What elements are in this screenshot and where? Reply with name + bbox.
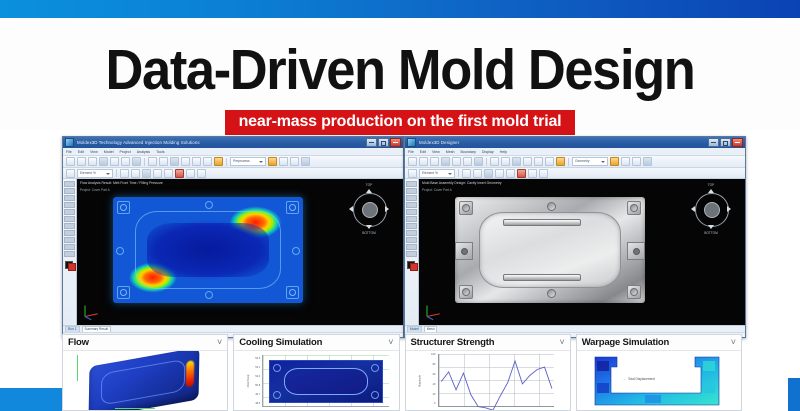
text-tool-icon[interactable] bbox=[406, 230, 417, 236]
bolt-hole bbox=[459, 201, 473, 215]
maximize-button[interactable] bbox=[378, 138, 389, 147]
node-icon[interactable] bbox=[159, 157, 168, 166]
layer-combo[interactable]: Element % bbox=[419, 169, 455, 178]
menu-item-mesh[interactable]: Mesh bbox=[446, 150, 455, 154]
side-tab bbox=[455, 242, 473, 260]
menu-item-model[interactable]: Model bbox=[104, 150, 114, 154]
bolt-hole bbox=[117, 201, 130, 214]
panel-structurer-strength[interactable]: Structurer Strength ˅ Magnitude 100 80 6… bbox=[405, 334, 571, 411]
wireframe-icon[interactable] bbox=[473, 169, 482, 178]
transparency-icon[interactable] bbox=[484, 169, 493, 178]
bolt-hole bbox=[273, 391, 281, 399]
select-tool-icon[interactable] bbox=[406, 181, 417, 187]
shade-icon[interactable] bbox=[462, 169, 471, 178]
viewport-cad-model[interactable]: Mold Base Assembly Design: Cavity Insert… bbox=[419, 179, 745, 325]
shade-icon[interactable] bbox=[120, 169, 129, 178]
color-swatch[interactable] bbox=[407, 261, 416, 269]
node-icon[interactable] bbox=[501, 157, 510, 166]
layer-icon[interactable] bbox=[408, 169, 417, 178]
strength-y-ticks: 100 80 60 40 20 0 bbox=[420, 352, 436, 407]
cooling-plot-area bbox=[262, 355, 388, 407]
element-icon[interactable] bbox=[170, 157, 179, 166]
warpage-art: →Total Displacement bbox=[577, 351, 741, 410]
zoom-icon[interactable] bbox=[523, 157, 532, 166]
viewcube-widget[interactable]: TOP BOTTOM bbox=[349, 189, 389, 229]
arrow-icon: → bbox=[623, 377, 626, 381]
element-icon[interactable] bbox=[512, 157, 521, 166]
toolbar-separator bbox=[486, 158, 487, 166]
menu-item-help[interactable]: Help bbox=[500, 150, 507, 154]
bolt-hole bbox=[286, 201, 299, 214]
bolt-hole bbox=[627, 285, 641, 299]
bolt-hole bbox=[117, 286, 130, 299]
axis-triad-icon bbox=[425, 299, 447, 319]
menu-item-project[interactable]: Project bbox=[120, 150, 131, 154]
mode-combo[interactable]: Preprocess bbox=[230, 157, 266, 166]
select-tool-icon[interactable] bbox=[64, 181, 75, 187]
toolbar-separator-2 bbox=[568, 158, 569, 166]
viewcube-left-arrow-icon[interactable] bbox=[349, 206, 353, 212]
panel-title: Structurer Strength bbox=[411, 337, 495, 348]
animate-icon[interactable] bbox=[186, 169, 195, 178]
top-banner bbox=[0, 0, 800, 18]
panel-body-flow[interactable] bbox=[63, 351, 227, 410]
tick-label: 60 bbox=[433, 373, 436, 376]
menu-item-file[interactable]: File bbox=[408, 150, 414, 154]
wireframe-icon[interactable] bbox=[131, 169, 140, 178]
redo-icon[interactable] bbox=[121, 157, 130, 166]
redo-icon[interactable] bbox=[463, 157, 472, 166]
chevron-down-icon[interactable]: ˅ bbox=[217, 338, 222, 347]
zoom-icon[interactable] bbox=[181, 157, 190, 166]
pin-hole bbox=[205, 291, 213, 299]
warpage-part-svg bbox=[583, 353, 741, 409]
strength-plot-area bbox=[438, 354, 554, 407]
app-icon bbox=[407, 138, 416, 147]
viewcube-bottom-label: BOTTOM bbox=[349, 231, 389, 235]
subtitle-badge: near-mass production on the first mold t… bbox=[225, 110, 576, 135]
panel-title: Warpage Simulation bbox=[582, 337, 669, 348]
probe-icon[interactable] bbox=[506, 169, 515, 178]
panel-body-warpage[interactable]: →Total Displacement bbox=[577, 351, 741, 410]
export-icon[interactable] bbox=[539, 169, 548, 178]
measure-icon[interactable] bbox=[279, 157, 288, 166]
tick-label: 49.7 bbox=[255, 393, 260, 396]
workarea-right: Mold Base Assembly Design: Cavity Insert… bbox=[405, 179, 745, 325]
open-icon[interactable] bbox=[419, 157, 428, 166]
print-icon[interactable] bbox=[99, 157, 108, 166]
shape-tool-icon[interactable] bbox=[406, 237, 417, 243]
probe-icon[interactable] bbox=[164, 169, 173, 178]
cooling-mold-contour bbox=[269, 360, 382, 403]
chevron-down-icon[interactable]: ˅ bbox=[388, 338, 393, 347]
panel-warpage-simulation[interactable]: Warpage Simulation ˅ bbox=[576, 334, 742, 411]
viewcube-left-arrow-icon[interactable] bbox=[691, 206, 695, 212]
lasso-tool-icon[interactable] bbox=[64, 188, 75, 194]
viewcube-right-arrow-icon[interactable] bbox=[727, 206, 731, 212]
bottom-left-accent-block bbox=[0, 388, 62, 411]
tick-label: 40 bbox=[433, 383, 436, 386]
section-icon[interactable] bbox=[290, 157, 299, 166]
menubar-left[interactable]: File Edit View Model Project Analysis To… bbox=[63, 148, 403, 156]
panel-header-warpage[interactable]: Warpage Simulation ˅ bbox=[577, 335, 741, 351]
flow-hotspot bbox=[186, 360, 194, 387]
menu-item-file[interactable]: File bbox=[66, 150, 72, 154]
tool-palette-left[interactable] bbox=[63, 179, 77, 325]
subtitle-wrapper: near-mass production on the first mold t… bbox=[0, 110, 800, 135]
menu-item-view[interactable]: View bbox=[432, 150, 440, 154]
strength-line-chart bbox=[439, 354, 554, 410]
toolbar-primary-right[interactable]: Geometry bbox=[405, 156, 745, 168]
save-icon[interactable] bbox=[430, 157, 439, 166]
bolt-hole bbox=[273, 364, 281, 372]
tick-label: 50.8 bbox=[255, 384, 260, 387]
panel-cooling-simulation[interactable]: Cooling Simulation ˅ Mold Temp 54.3 53.1… bbox=[233, 334, 399, 411]
viewcube-up-arrow-icon[interactable] bbox=[366, 189, 372, 193]
viewcube-hub[interactable] bbox=[362, 202, 378, 218]
bolt-hole bbox=[459, 285, 473, 299]
viewcube-widget[interactable]: TOP BOTTOM bbox=[691, 189, 731, 229]
print-icon[interactable] bbox=[441, 157, 450, 166]
shape-tool-icon[interactable] bbox=[64, 237, 75, 243]
grid-icon[interactable] bbox=[301, 157, 310, 166]
menu-item-edit[interactable]: Edit bbox=[78, 150, 84, 154]
hand-tool-icon[interactable] bbox=[64, 244, 75, 250]
sheet-tabs-left[interactable]: Run 1 Summary Result bbox=[63, 325, 403, 332]
pin-hole bbox=[292, 247, 300, 255]
axis-z bbox=[427, 316, 434, 320]
mold-plate-cad bbox=[455, 197, 645, 303]
bolt-hole bbox=[371, 391, 379, 399]
color-swatch[interactable] bbox=[65, 261, 74, 269]
viewport-heading: Mold Base Assembly Design: Cavity Insert… bbox=[422, 181, 502, 186]
layer-combo[interactable]: Element % bbox=[77, 169, 113, 178]
panel-body-strength[interactable]: Magnitude 100 80 60 40 20 0 bbox=[406, 351, 570, 410]
tick-label: 54.3 bbox=[255, 357, 260, 360]
delete-icon[interactable] bbox=[175, 169, 184, 178]
workarea-left: Flow Analysis Result: Melt Front Time / … bbox=[63, 179, 403, 325]
page-title: Data-Driven Mold Design bbox=[32, 40, 768, 100]
viewport-subheading: Project: Cover Part A bbox=[80, 188, 110, 193]
chevron-down-icon[interactable]: ˅ bbox=[559, 338, 564, 347]
viewport-heading: Flow Analysis Result: Melt Front Time / … bbox=[80, 181, 163, 186]
tick-label: 48.5 bbox=[255, 402, 260, 405]
rotate-icon[interactable] bbox=[545, 157, 554, 166]
flow-part-3d bbox=[89, 351, 200, 410]
panel-title: Cooling Simulation bbox=[239, 337, 322, 348]
panel-header-cooling[interactable]: Cooling Simulation ˅ bbox=[234, 335, 398, 351]
brush-tool-icon[interactable] bbox=[64, 202, 75, 208]
gradient-tool-icon[interactable] bbox=[64, 223, 75, 229]
cad-rib bbox=[503, 274, 581, 281]
viewcube-top-label: TOP bbox=[691, 183, 731, 187]
tool-palette-right[interactable] bbox=[405, 179, 419, 325]
menu-item-view[interactable]: View bbox=[90, 150, 98, 154]
pin-hole bbox=[116, 247, 124, 255]
close-icon[interactable] bbox=[732, 138, 743, 147]
side-tab bbox=[627, 242, 645, 260]
viewcube-right-arrow-icon[interactable] bbox=[385, 206, 389, 212]
new-icon[interactable] bbox=[408, 157, 417, 166]
pan-icon[interactable] bbox=[192, 157, 201, 166]
axis-triad-icon bbox=[83, 299, 105, 319]
toolbar-separator-3 bbox=[458, 169, 459, 177]
mode-combo[interactable]: Geometry bbox=[572, 157, 608, 166]
viewcube-top-label: TOP bbox=[349, 183, 389, 187]
gradient-tool-icon[interactable] bbox=[406, 223, 417, 229]
panel-header-flow[interactable]: Flow ˅ bbox=[63, 335, 227, 351]
toolbar-separator bbox=[144, 158, 145, 166]
window-title: Moldex3D Technology Advanced Injection M… bbox=[77, 140, 366, 145]
viewport-subheading: Project: Cover Part A bbox=[422, 188, 452, 193]
left-margin bbox=[0, 130, 62, 388]
warpage-annotation: →Total Displacement bbox=[623, 377, 655, 381]
run-analysis-icon[interactable] bbox=[556, 157, 565, 166]
tick-label: 0 bbox=[434, 402, 435, 405]
pin-hole bbox=[547, 202, 556, 211]
cut-icon[interactable] bbox=[474, 157, 483, 166]
viewcube-hub[interactable] bbox=[704, 202, 720, 218]
tick-label: 52.0 bbox=[255, 375, 260, 378]
tick-label: 100 bbox=[431, 353, 435, 356]
bottom-right-accent-block bbox=[788, 378, 800, 411]
app-icon bbox=[65, 138, 74, 147]
legend-icon[interactable] bbox=[495, 169, 504, 178]
warpage-annotation-text: Total Displacement bbox=[628, 377, 655, 381]
panel-title: Flow bbox=[68, 337, 89, 348]
toolbar-primary-left[interactable]: Preprocess bbox=[63, 156, 403, 168]
hero-section: Data-Driven Mold Design near-mass produc… bbox=[0, 18, 800, 130]
bolt-hole bbox=[286, 286, 299, 299]
viewport-flow-result[interactable]: Flow Analysis Result: Melt Front Time / … bbox=[77, 179, 403, 325]
viewcube-down-arrow-icon[interactable] bbox=[366, 225, 372, 229]
mold-plate-heatmap bbox=[113, 197, 303, 303]
mesh-icon[interactable] bbox=[490, 157, 499, 166]
tick-label: 80 bbox=[433, 363, 436, 366]
app-window-left[interactable]: Moldex3D Technology Advanced Injection M… bbox=[62, 136, 404, 338]
undo-icon[interactable] bbox=[110, 157, 119, 166]
minimize-button[interactable] bbox=[708, 138, 719, 147]
menu-item-display[interactable]: Display bbox=[482, 150, 494, 154]
layer-icon[interactable] bbox=[66, 169, 75, 178]
lasso-tool-icon[interactable] bbox=[406, 188, 417, 194]
window-controls[interactable] bbox=[366, 138, 401, 147]
dimension-line-2 bbox=[115, 408, 155, 409]
result-panels: Flow ˅ Cooling Simulation ˅ Mold Temp 54… bbox=[62, 334, 742, 411]
transparency-icon[interactable] bbox=[142, 169, 151, 178]
run-analysis-icon[interactable] bbox=[214, 157, 223, 166]
close-icon[interactable] bbox=[390, 138, 401, 147]
menu-item-boundary[interactable]: Boundary bbox=[461, 150, 476, 154]
maximize-button[interactable] bbox=[720, 138, 731, 147]
chevron-down-icon[interactable]: ˅ bbox=[731, 338, 736, 347]
zoom-tool-icon[interactable] bbox=[64, 251, 75, 257]
legend-icon[interactable] bbox=[153, 169, 162, 178]
app-window-right[interactable]: Moldex3D Designer File Edit View Mesh Bo… bbox=[404, 136, 746, 338]
menu-item-tools[interactable]: Tools bbox=[156, 150, 164, 154]
panel-flow[interactable]: Flow ˅ bbox=[62, 334, 228, 411]
text-tool-icon[interactable] bbox=[64, 230, 75, 236]
panel-body-cooling[interactable]: Mold Temp 54.3 53.1 52.0 50.8 49.7 48.5 bbox=[234, 351, 398, 410]
brush-tool-icon[interactable] bbox=[406, 202, 417, 208]
background-color[interactable] bbox=[68, 263, 76, 271]
save-icon[interactable] bbox=[88, 157, 97, 166]
fill-tool-icon[interactable] bbox=[64, 216, 75, 222]
mesh-icon[interactable] bbox=[148, 157, 157, 166]
warning-icon[interactable] bbox=[268, 157, 277, 166]
menubar-right[interactable]: File Edit View Mesh Boundary Display Hel… bbox=[405, 148, 745, 156]
grid-icon[interactable] bbox=[643, 157, 652, 166]
bolt-hole bbox=[371, 364, 379, 372]
window-title: Moldex3D Designer bbox=[419, 140, 708, 145]
dimension-line bbox=[77, 355, 78, 381]
pan-icon[interactable] bbox=[534, 157, 543, 166]
cooling-cavity-outline bbox=[284, 368, 367, 395]
cad-rib bbox=[503, 219, 581, 226]
cut-icon[interactable] bbox=[132, 157, 141, 166]
crop-tool-icon[interactable] bbox=[406, 195, 417, 201]
titlebar-right[interactable]: Moldex3D Designer bbox=[405, 137, 745, 148]
toolbar-separator-2 bbox=[226, 158, 227, 166]
background-color[interactable] bbox=[410, 263, 418, 271]
eraser-tool-icon[interactable] bbox=[406, 209, 417, 215]
toolbar-secondary-right[interactable]: Element % bbox=[405, 168, 745, 179]
sheet-tabs-right[interactable]: Model Mesh bbox=[405, 325, 745, 332]
panel-header-strength[interactable]: Structurer Strength ˅ bbox=[406, 335, 570, 351]
viewcube-bottom-label: BOTTOM bbox=[691, 231, 731, 235]
window-controls[interactable] bbox=[708, 138, 743, 147]
tick-label: 20 bbox=[433, 393, 436, 396]
animate-icon[interactable] bbox=[528, 169, 537, 178]
bolt-hole bbox=[627, 201, 641, 215]
menu-item-edit[interactable]: Edit bbox=[420, 150, 426, 154]
minimize-button[interactable] bbox=[366, 138, 377, 147]
warning-icon[interactable] bbox=[610, 157, 619, 166]
hand-tool-icon[interactable] bbox=[406, 244, 417, 250]
crop-tool-icon[interactable] bbox=[64, 195, 75, 201]
open-icon[interactable] bbox=[77, 157, 86, 166]
pin-hole bbox=[205, 201, 213, 209]
right-margin bbox=[744, 130, 800, 378]
menu-item-analysis[interactable]: Analysis bbox=[137, 150, 150, 154]
cooling-y-ticks: 54.3 53.1 52.0 50.8 49.7 48.5 bbox=[248, 355, 260, 407]
viewcube-up-arrow-icon[interactable] bbox=[708, 189, 714, 193]
eraser-tool-icon[interactable] bbox=[64, 209, 75, 215]
delete-icon[interactable] bbox=[517, 169, 526, 178]
toolbar-separator-3 bbox=[116, 169, 117, 177]
viewcube-down-arrow-icon[interactable] bbox=[708, 225, 714, 229]
axis-z bbox=[85, 316, 92, 320]
cavity-outline bbox=[135, 211, 281, 289]
titlebar-left[interactable]: Moldex3D Technology Advanced Injection M… bbox=[63, 137, 403, 148]
fill-tool-icon[interactable] bbox=[406, 216, 417, 222]
measure-icon[interactable] bbox=[621, 157, 630, 166]
pin-hole bbox=[547, 289, 556, 298]
toolbar-secondary-left[interactable]: Element % bbox=[63, 168, 403, 179]
section-icon[interactable] bbox=[632, 157, 641, 166]
new-icon[interactable] bbox=[66, 157, 75, 166]
rotate-icon[interactable] bbox=[203, 157, 212, 166]
export-icon[interactable] bbox=[197, 169, 206, 178]
undo-icon[interactable] bbox=[452, 157, 461, 166]
tick-label: 53.1 bbox=[255, 366, 260, 369]
zoom-tool-icon[interactable] bbox=[406, 251, 417, 257]
